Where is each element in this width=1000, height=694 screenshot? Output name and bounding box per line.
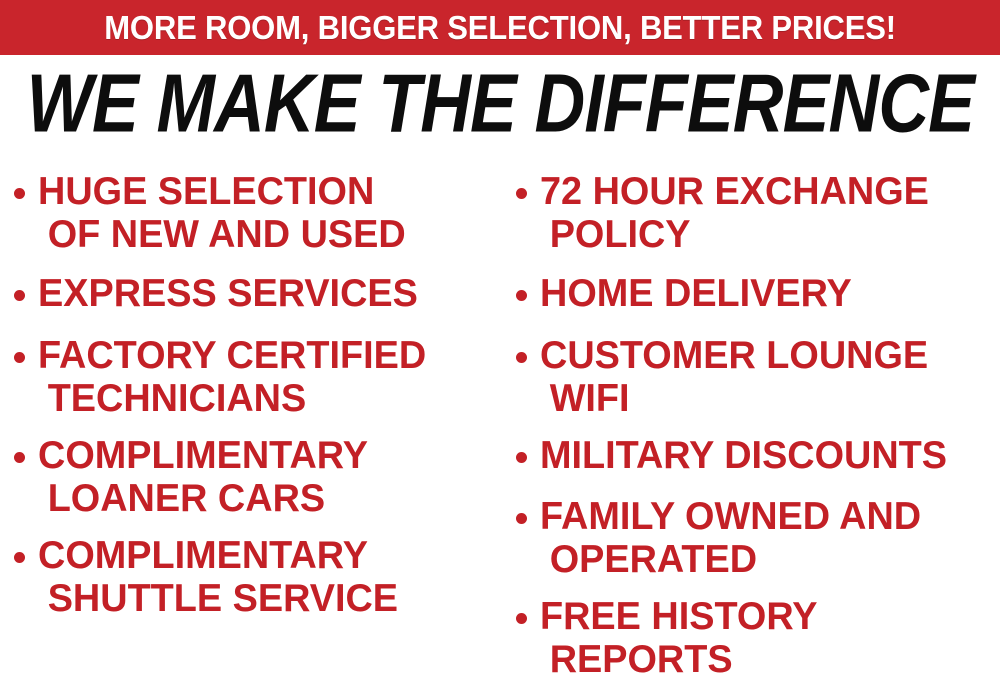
feature-bullet-text: COMPLIMENTARYSHUTTLE SERVICE: [38, 534, 398, 620]
feature-bullet-text: EXPRESS SERVICES: [38, 272, 418, 315]
feature-bullet-line1: COMPLIMENTARY: [38, 534, 398, 577]
feature-bullet-line1: EXPRESS SERVICES: [38, 272, 418, 315]
bullet-dot-icon: [516, 452, 527, 463]
feature-bullet-text: FAMILY OWNED ANDOPERATED: [540, 495, 921, 581]
feature-bullet-line1: FREE HISTORY: [540, 595, 817, 638]
feature-bullet: COMPLIMENTARYSHUTTLE SERVICE: [14, 534, 409, 620]
feature-bullet-line2: POLICY: [540, 213, 929, 256]
bullet-dot-icon: [516, 613, 527, 624]
feature-bullet: EXPRESS SERVICES: [14, 272, 430, 315]
bullet-dot-icon: [516, 188, 527, 199]
feature-bullet-text: FACTORY CERTIFIEDTECHNICIANS: [38, 334, 426, 420]
feature-bullet-line2: SHUTTLE SERVICE: [38, 577, 398, 620]
feature-bullet-text: HOME DELIVERY: [540, 272, 852, 315]
feature-bullet: FREE HISTORYREPORTS: [516, 595, 826, 681]
feature-bullet: FACTORY CERTIFIEDTECHNICIANS: [14, 334, 438, 420]
page-title: WE MAKE THE DIFFERENCE: [26, 62, 973, 145]
feature-bullet-line1: 72 HOUR EXCHANGE: [540, 170, 929, 213]
feature-bullet-line1: COMPLIMENTARY: [38, 434, 368, 477]
feature-bullet-line1: HOME DELIVERY: [540, 272, 852, 315]
main-headline-area: WE MAKE THE DIFFERENCE: [0, 62, 1000, 144]
features-column-left: HUGE SELECTIONOF NEW AND USEDEXPRESS SER…: [14, 152, 500, 694]
feature-bullet: 72 HOUR EXCHANGEPOLICY: [516, 170, 941, 256]
feature-bullet-line1: FACTORY CERTIFIED: [38, 334, 426, 377]
feature-bullet: HUGE SELECTIONOF NEW AND USED: [14, 170, 417, 256]
feature-bullet-text: MILITARY DISCOUNTS: [540, 434, 947, 477]
bullet-dot-icon: [14, 290, 25, 301]
feature-bullet: FAMILY OWNED ANDOPERATED: [516, 495, 933, 581]
feature-bullet: CUSTOMER LOUNGEWIFI: [516, 334, 940, 420]
feature-bullet-line2: REPORTS: [540, 638, 817, 681]
banner-headline: MORE ROOM, BIGGER SELECTION, BETTER PRIC…: [104, 11, 896, 44]
bullet-dot-icon: [14, 188, 25, 199]
feature-bullet-line1: MILITARY DISCOUNTS: [540, 434, 947, 477]
promo-poster: MORE ROOM, BIGGER SELECTION, BETTER PRIC…: [0, 0, 1000, 694]
bullet-dot-icon: [516, 513, 527, 524]
feature-bullet-text: 72 HOUR EXCHANGEPOLICY: [540, 170, 929, 256]
feature-bullet: HOME DELIVERY: [516, 272, 861, 315]
feature-bullet-line1: HUGE SELECTION: [38, 170, 406, 213]
feature-bullet-text: COMPLIMENTARYLOANER CARS: [38, 434, 368, 520]
feature-bullet-text: HUGE SELECTIONOF NEW AND USED: [38, 170, 406, 256]
features-columns: HUGE SELECTIONOF NEW AND USEDEXPRESS SER…: [0, 152, 1000, 694]
bullet-dot-icon: [516, 352, 527, 363]
feature-bullet-line2: TECHNICIANS: [38, 377, 426, 420]
feature-bullet-line1: CUSTOMER LOUNGE: [540, 334, 928, 377]
bullet-dot-icon: [14, 352, 25, 363]
feature-bullet: MILITARY DISCOUNTS: [516, 434, 960, 477]
bullet-dot-icon: [516, 290, 527, 301]
feature-bullet-line2: LOANER CARS: [38, 477, 368, 520]
feature-bullet-line2: WIFI: [540, 377, 928, 420]
feature-bullet-line1: FAMILY OWNED AND: [540, 495, 921, 538]
feature-bullet-text: FREE HISTORYREPORTS: [540, 595, 817, 681]
feature-bullet: COMPLIMENTARYLOANER CARS: [14, 434, 378, 520]
features-column-right: 72 HOUR EXCHANGEPOLICYHOME DELIVERYCUSTO…: [516, 152, 1000, 694]
feature-bullet-line2: OPERATED: [540, 538, 921, 581]
bullet-dot-icon: [14, 452, 25, 463]
bullet-dot-icon: [14, 552, 25, 563]
feature-bullet-text: CUSTOMER LOUNGEWIFI: [540, 334, 928, 420]
top-banner: MORE ROOM, BIGGER SELECTION, BETTER PRIC…: [0, 0, 1000, 55]
feature-bullet-line2: OF NEW AND USED: [38, 213, 406, 256]
